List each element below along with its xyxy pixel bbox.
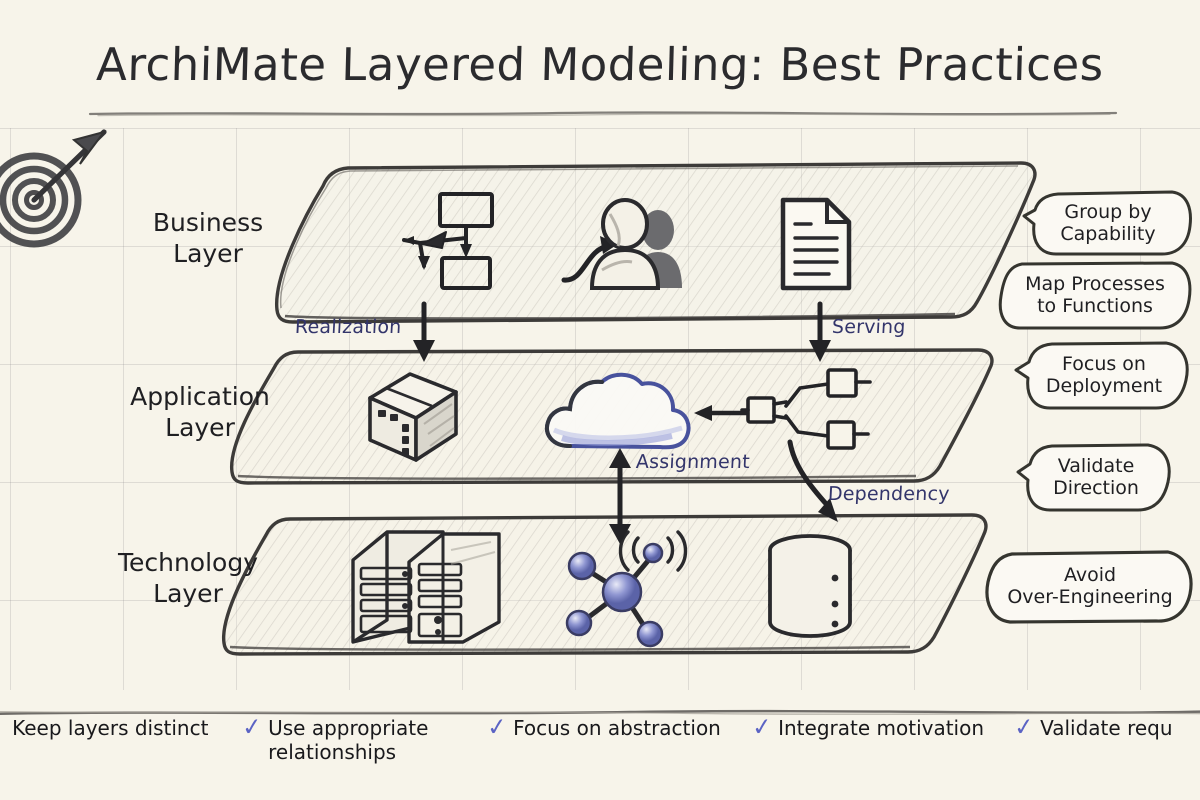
callout-avoid-over-engineering[interactable]: Avoid Over-Engineering: [982, 546, 1198, 626]
callout-line1: Focus on: [1062, 353, 1146, 375]
relationship-label-realization: Realization: [294, 316, 402, 338]
component-box-icon: [358, 366, 468, 466]
callout-group-by-capability[interactable]: Group by Capability: [1022, 188, 1194, 258]
callout-line2: to Functions: [1037, 295, 1153, 317]
callout-line1: Avoid: [1064, 564, 1116, 586]
check-icon: ✓: [751, 714, 774, 740]
footer-item-keep-layers-distinct[interactable]: ✓ Keep layers distinct: [0, 716, 242, 740]
layer-label-application-line2: Layer: [100, 413, 300, 444]
callout-map-processes[interactable]: Map Processes to Functions: [996, 258, 1194, 332]
layer-label-technology: Technology Layer: [88, 548, 288, 609]
network-node-icon: [556, 530, 696, 650]
footer-item-validate-requirements[interactable]: ✓ Validate requ: [1014, 716, 1173, 740]
page-title: ArchiMate Layered Modeling: Best Practic…: [0, 38, 1200, 91]
callout-line1: Validate: [1058, 455, 1135, 477]
assignment-arrow: [600, 448, 640, 544]
title-underline: [88, 103, 1118, 106]
process-flow-icon: [398, 188, 513, 293]
callout-line2: Deployment: [1046, 375, 1162, 397]
layer-label-application-line1: Application: [100, 382, 300, 413]
footer-item-label: Validate requ: [1040, 716, 1172, 740]
footer-item-label: Use appropriate relationships: [268, 716, 443, 764]
callout-line2: Direction: [1053, 477, 1139, 499]
callout-line2: Over-Engineering: [1007, 586, 1172, 608]
document-icon: [775, 194, 857, 294]
relationship-label-serving: Serving: [831, 316, 906, 338]
check-icon: ✓: [241, 714, 264, 740]
callout-validate-direction[interactable]: Validate Direction: [1016, 440, 1176, 514]
footer-item-integrate-motivation[interactable]: ✓ Integrate motivation: [752, 716, 1014, 740]
footer-item-label: Keep layers distinct: [12, 716, 208, 740]
layer-label-technology-line1: Technology: [88, 548, 288, 579]
actors-icon: [588, 196, 688, 292]
cloud-icon: [540, 368, 700, 458]
layer-label-technology-line2: Layer: [88, 579, 288, 610]
layer-label-business: Business Layer: [108, 208, 308, 269]
check-icon: ✓: [1013, 714, 1036, 740]
layer-label-business-line1: Business: [108, 208, 308, 239]
footer-item-label: Focus on abstraction: [513, 716, 721, 740]
database-icon: [758, 530, 864, 640]
footer-divider: [0, 702, 1200, 706]
layer-label-application: Application Layer: [100, 382, 300, 443]
layer-label-business-line2: Layer: [108, 239, 308, 270]
relationship-label-assignment: Assignment: [635, 451, 750, 473]
callout-focus-on-deployment[interactable]: Focus on Deployment: [1014, 338, 1194, 412]
callout-line1: Group by: [1064, 201, 1151, 223]
check-icon: ✓: [486, 714, 509, 740]
footer-item-use-appropriate-relationships[interactable]: ✓ Use appropriate relationships: [242, 716, 487, 764]
diagram-canvas: ArchiMate Layered Modeling: Best Practic…: [0, 0, 1200, 800]
footer-item-focus-on-abstraction[interactable]: ✓ Focus on abstraction: [487, 716, 752, 740]
relationship-label-dependency: Dependency: [827, 483, 950, 505]
callout-line1: Map Processes: [1025, 273, 1165, 295]
callout-line2: Capability: [1060, 223, 1155, 245]
realization-arrow: [404, 304, 444, 366]
footer-item-label: Integrate motivation: [778, 716, 984, 740]
footer-checklist: ✓ Keep layers distinct ✓ Use appropriate…: [0, 716, 1200, 786]
servers-icon: [335, 524, 505, 650]
